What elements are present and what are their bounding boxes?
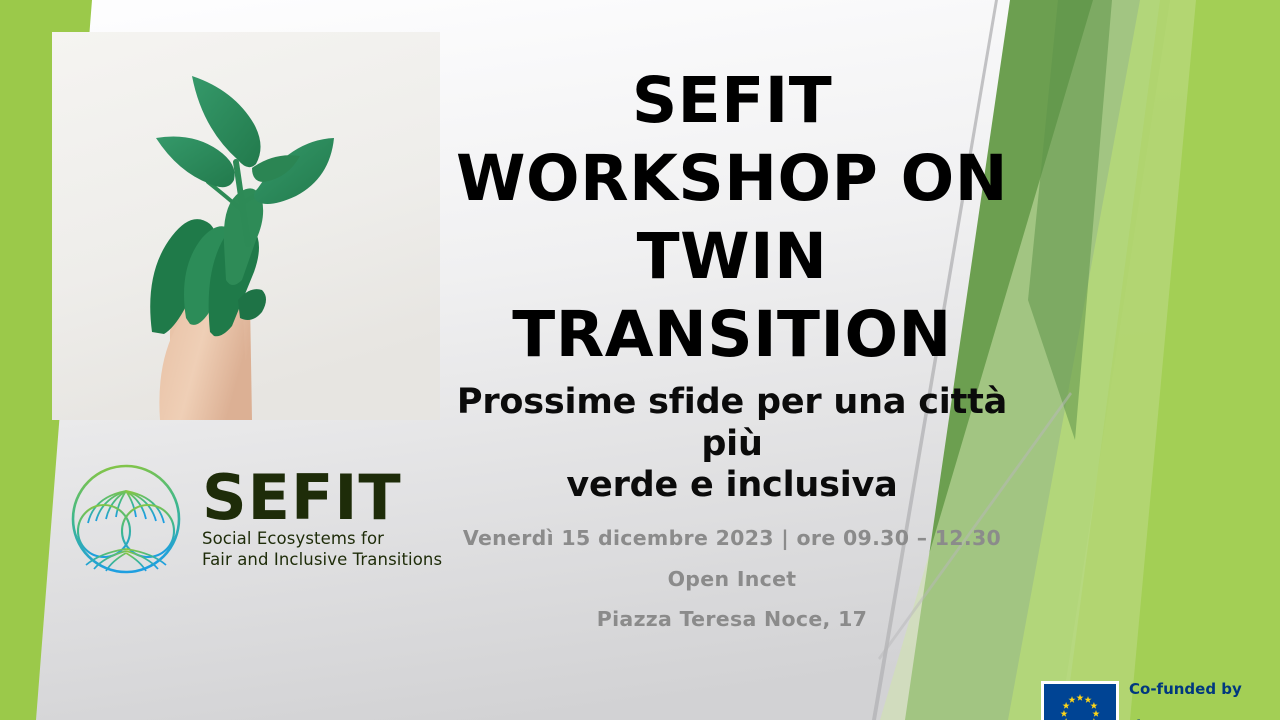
event-datetime: Venerdì 15 dicembre 2023 | ore 09.30 – 1… (432, 528, 1032, 549)
slide-subtitle: Prossime sfide per una città più verde e… (432, 382, 1032, 506)
eu-cofunding-badge: Co-funded by the European Union (1041, 662, 1280, 720)
right-green-accent-strip (1028, 0, 1112, 440)
event-address: Piazza Teresa Noce, 17 (432, 609, 1032, 630)
eu-text-line-1: Co-funded by (1129, 680, 1242, 698)
subtitle-line-1: Prossime sfide per una città più (457, 382, 1007, 463)
title-line-3: TWIN (637, 220, 828, 293)
sefit-tagline-line-2: Fair and Inclusive Transitions (202, 549, 442, 570)
green-translucent-sweep (1065, 0, 1280, 720)
right-green-wedge-mid (1008, 0, 1280, 720)
eu-flag-frame (1041, 681, 1119, 720)
subtitle-line-2: verde e inclusiva (566, 465, 897, 505)
title-line-1: SEFIT (632, 64, 832, 137)
eu-cofunding-text: Co-funded by the European Union (1129, 662, 1280, 720)
sefit-wordmark: SEFIT (202, 468, 442, 529)
sefit-tagline-line-1: Social Ecosystems for (202, 528, 442, 549)
title-line-2: WORKSHOP ON (456, 142, 1008, 215)
eu-flag-icon (1044, 684, 1116, 720)
page-title: SEFIT WORKSHOP ON TWIN TRANSITION (432, 62, 1032, 374)
presentation-slide: SEFIT Social Ecosystems for Fair and Inc… (0, 0, 1280, 720)
sefit-tree-mark-icon (64, 457, 188, 581)
sefit-logo: SEFIT Social Ecosystems for Fair and Inc… (64, 448, 444, 590)
slide-text-block: SEFIT WORKSHOP ON TWIN TRANSITION Prossi… (432, 62, 1032, 630)
hero-photo (52, 32, 440, 420)
event-venue: Open Incet (432, 569, 1032, 590)
title-line-4: TRANSITION (512, 298, 951, 371)
right-edge-green-panel (1130, 0, 1280, 720)
